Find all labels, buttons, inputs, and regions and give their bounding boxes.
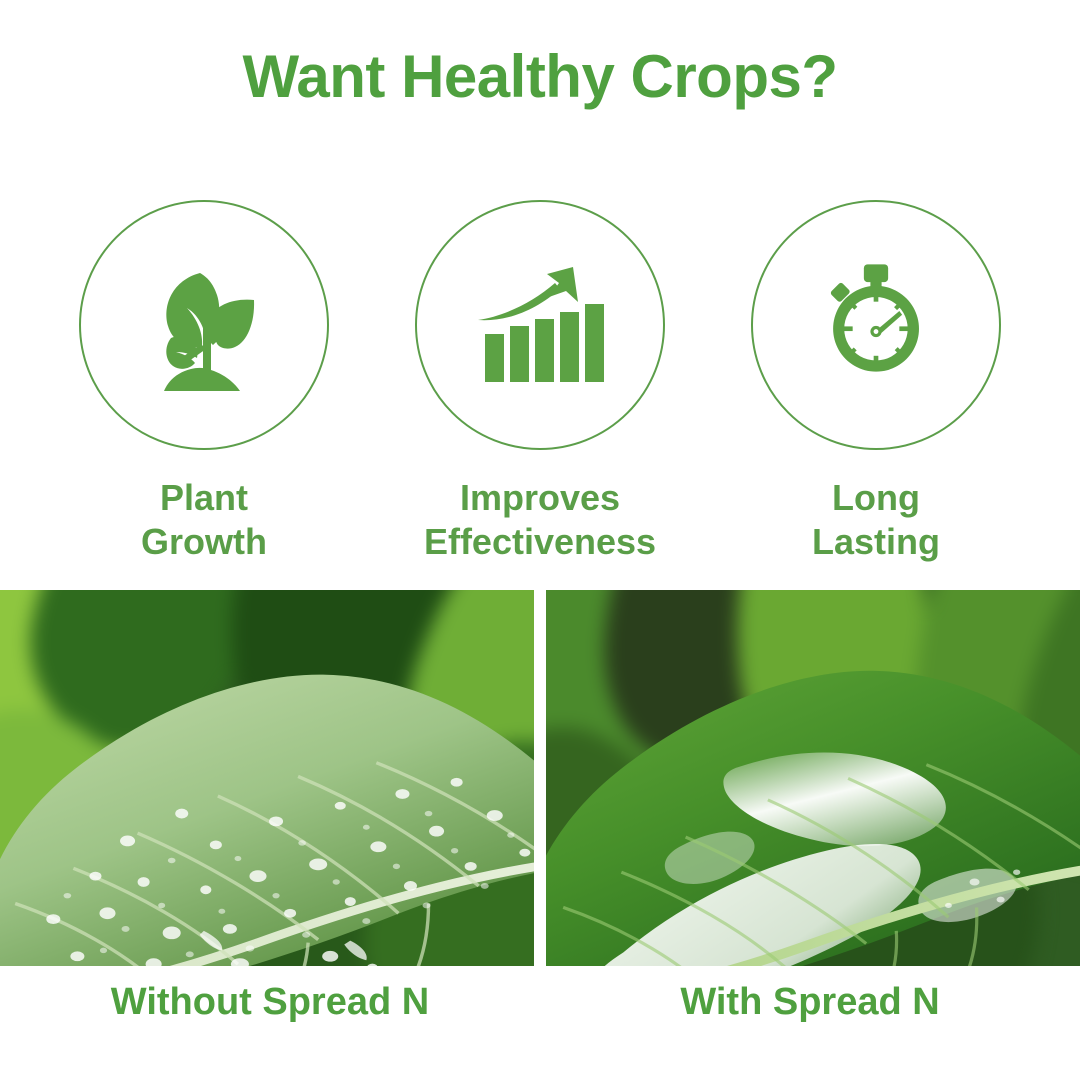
feature-label-improves-effectiveness: Improves Effectiveness [424, 476, 656, 564]
leaf-with-spread-water-film [546, 620, 1080, 966]
icon-circle-long-lasting [751, 200, 1001, 450]
feature-improves-effectiveness: Improves Effectiveness [372, 200, 708, 564]
growth-bar-chart-icon [465, 250, 615, 400]
caption-with-spread-n: With Spread N [540, 980, 1080, 1026]
feature-row: Plant Growth [0, 200, 1080, 564]
feature-plant-growth: Plant Growth [36, 200, 372, 564]
photo-without-spread-n [0, 590, 534, 966]
icon-circle-improves-effectiveness [415, 200, 665, 450]
photo-with-spread-n [546, 590, 1080, 966]
promo-page: Want Healthy Crops? [0, 0, 1080, 1080]
feature-long-lasting: Long Lasting [708, 200, 1044, 564]
feature-label-long-lasting: Long Lasting [812, 476, 940, 564]
stopwatch-icon [806, 255, 946, 395]
page-title: Want Healthy Crops? [0, 44, 1080, 110]
caption-row: Without Spread N With Spread N [0, 980, 1080, 1026]
leaf-with-beaded-droplets [0, 620, 534, 966]
icon-circle-plant-growth [79, 200, 329, 450]
feature-label-plant-growth: Plant Growth [141, 476, 267, 564]
caption-without-spread-n: Without Spread N [0, 980, 540, 1026]
comparison-photo-row [0, 590, 1080, 966]
seedling-icon [129, 250, 279, 400]
